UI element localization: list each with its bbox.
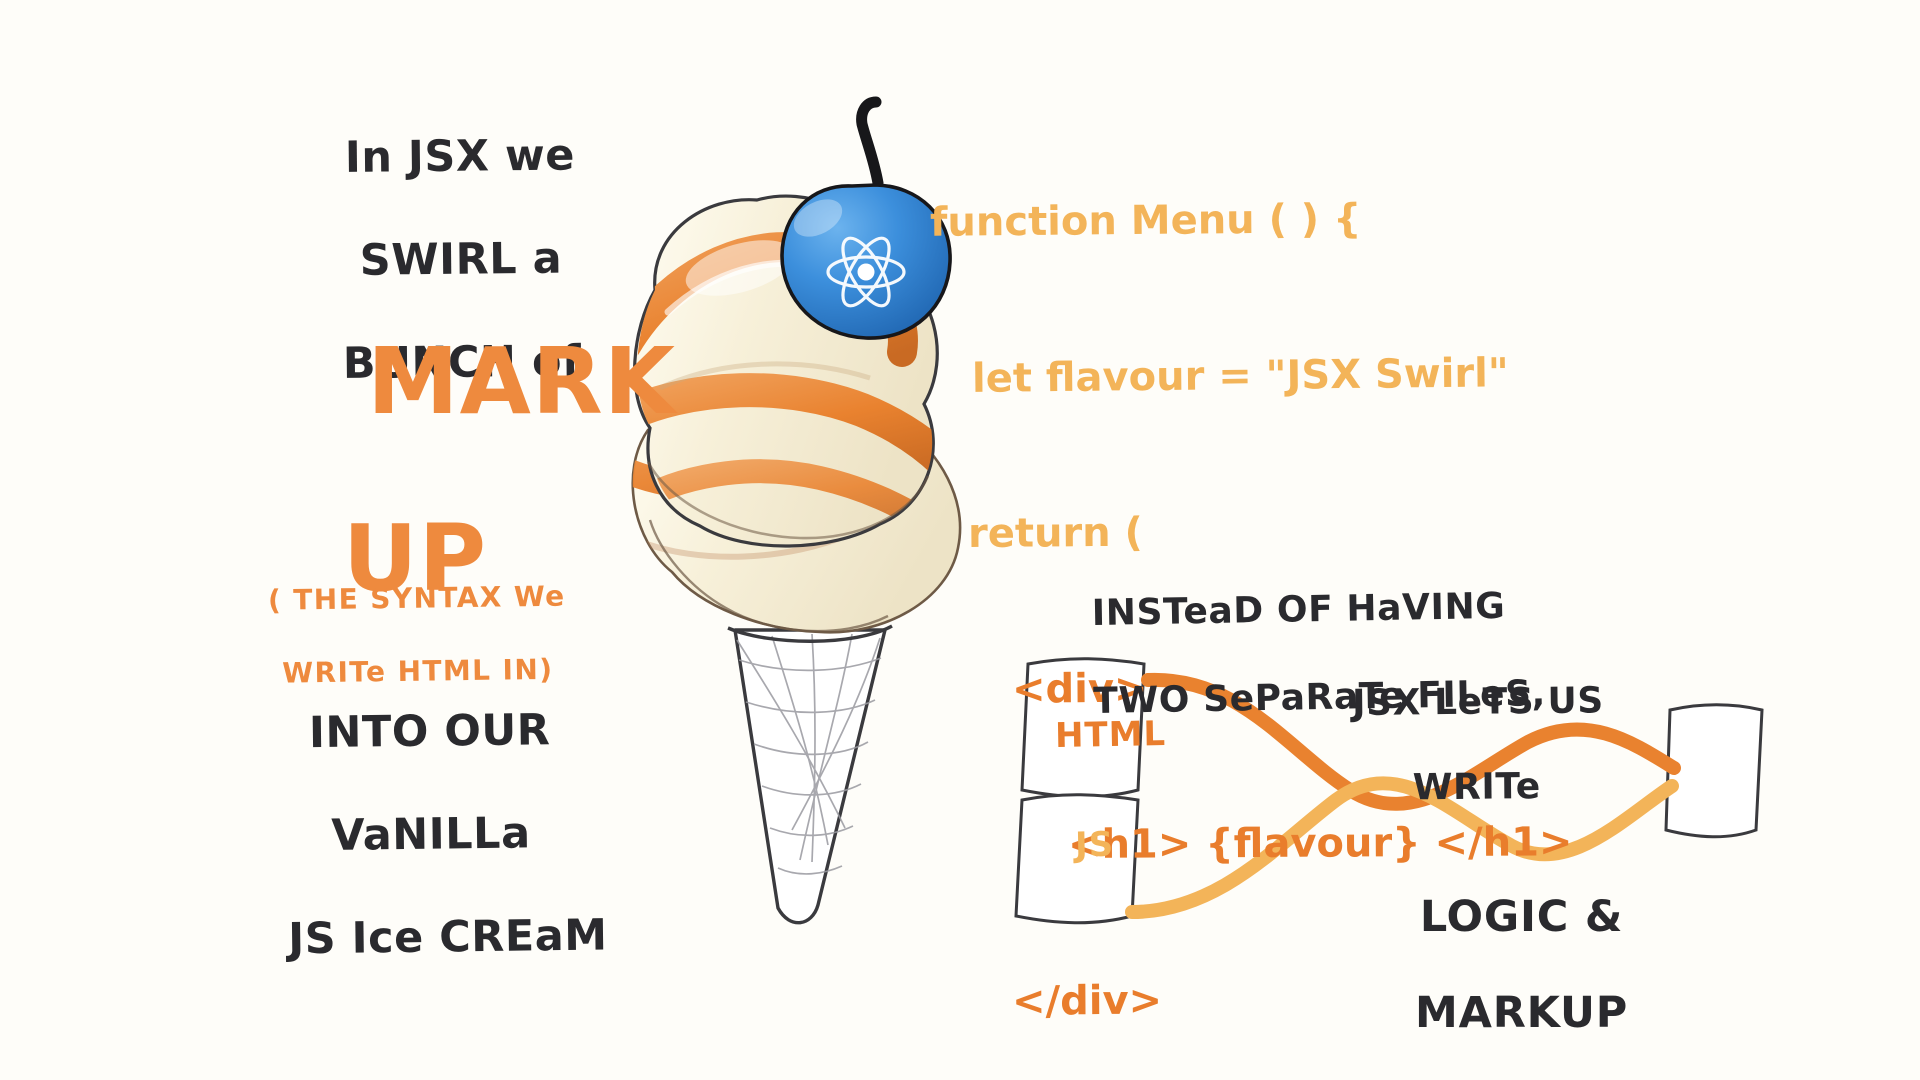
code-line-function: function Menu ( ) {	[930, 191, 1573, 249]
js-card-label: JS	[1075, 825, 1115, 866]
logic-line-2: MARKUP	[1415, 988, 1628, 1038]
into-line-2: VaNILLa	[331, 808, 531, 860]
cherry-highlight	[788, 192, 849, 245]
into-line-1: INTO OUR	[309, 705, 551, 758]
logic-and-markup-text: LOGIC & MARKUP SIDe-BY-SIDe	[1340, 845, 1640, 1080]
into-vanilla-text: INTO OUR VaNILLa JS Ice CREaM	[223, 653, 577, 1018]
into-line-3: JS Ice CREaM	[288, 910, 608, 964]
syntax-note-line-1: ( THE SYNTAX We	[268, 580, 566, 617]
merged-file-card	[1666, 705, 1762, 837]
jsx-lets-line-1: JSX LeTS US	[1352, 681, 1604, 725]
html-card-label: HTML	[1055, 714, 1167, 756]
markup-line-1: MARK	[367, 328, 676, 435]
waffle-cone	[728, 626, 892, 923]
atom-nucleus	[858, 264, 875, 281]
jsx-lets-us-write-text: JSX LeTS US WRITe	[1299, 638, 1601, 853]
jsx-lets-line-2: WRITe	[1412, 766, 1540, 808]
atom-icon	[828, 232, 904, 313]
code-line-let-flavour: let flavour = "JSX Swirl"	[930, 347, 1573, 406]
sketchnote-canvas: In JSX we SWIRL a BUNCH of MARK UP ( THE…	[0, 0, 1920, 1080]
react-cherry	[782, 102, 950, 338]
instead-line-1: INSTeaD OF HaVING	[1091, 586, 1505, 634]
logic-line-1: LOGIC &	[1420, 892, 1623, 942]
cherry-body	[782, 185, 950, 338]
cherry-stem	[862, 102, 878, 183]
lead-line-1: In JSX we	[345, 130, 576, 182]
